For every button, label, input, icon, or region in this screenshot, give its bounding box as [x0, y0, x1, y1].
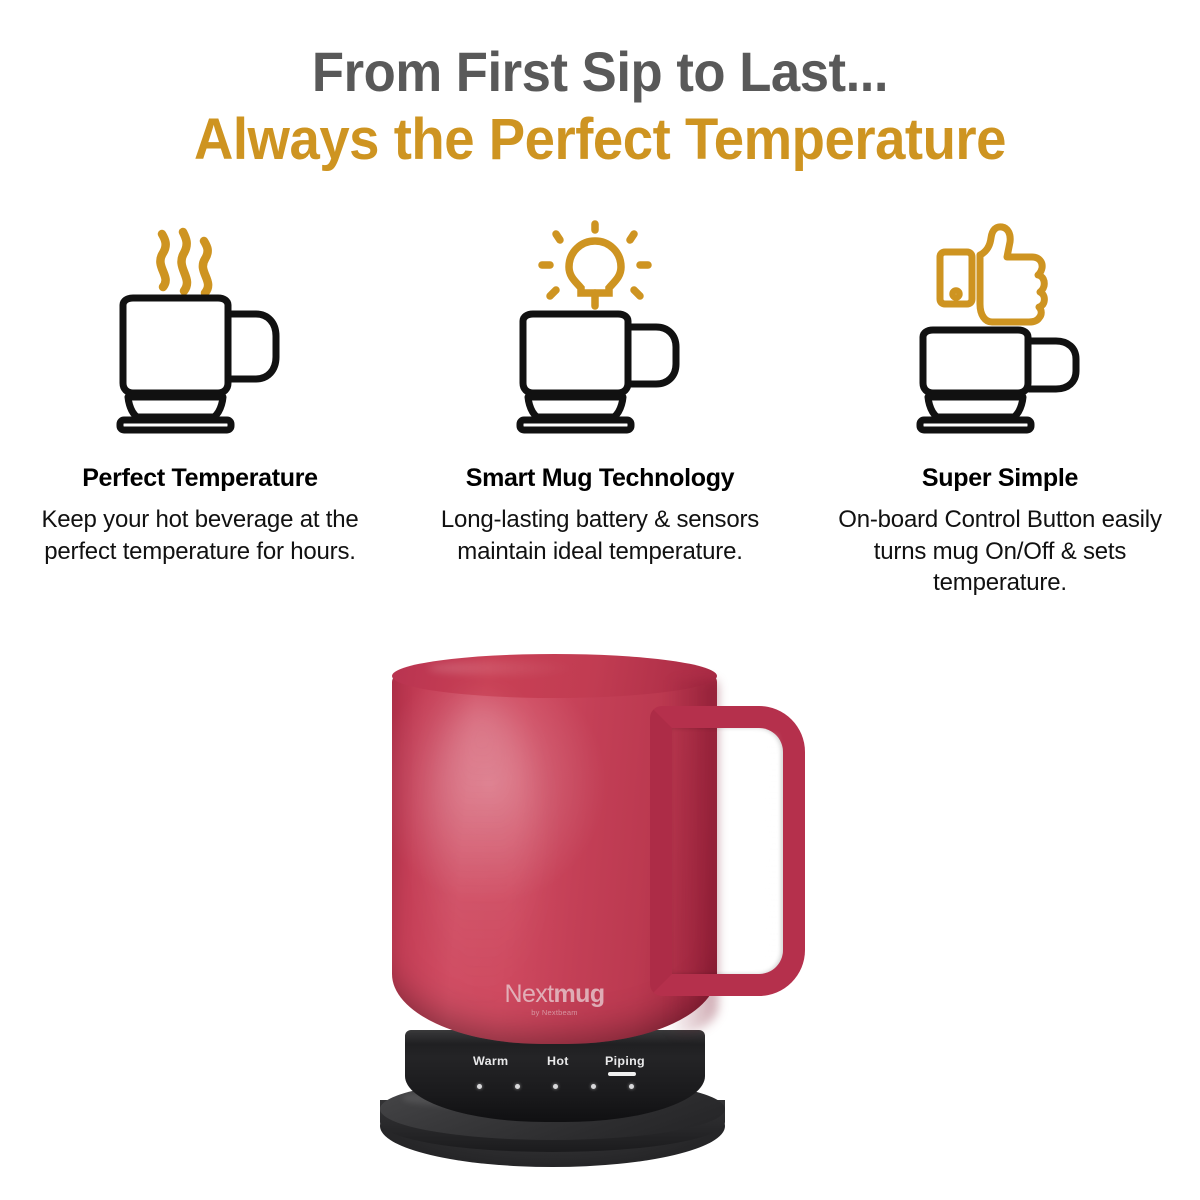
feature-description: On-board Control Button easily turns mug…	[835, 504, 1165, 598]
brand-tagline: by Nextbeam	[392, 1008, 717, 1017]
brand-name-bold: mug	[554, 980, 605, 1008]
mug-body-sheen	[428, 700, 536, 1000]
feature-column-smart-mug-technology: Smart Mug Technology Long-lasting batter…	[400, 209, 800, 598]
headline-line-1: From First Sip to Last...	[36, 42, 1164, 102]
feature-title: Super Simple	[922, 464, 1078, 493]
mug-with-lightbulb-icon	[510, 209, 690, 434]
headline-line-2: Always the Perfect Temperature	[36, 108, 1164, 173]
brand-name-light: Next	[505, 980, 554, 1008]
feature-description: Keep your hot beverage at the perfect te…	[35, 504, 365, 566]
mug-handle-highlight	[770, 734, 778, 966]
feature-row: Perfect Temperature Keep your hot bevera…	[0, 209, 1200, 598]
feature-title: Perfect Temperature	[82, 464, 318, 493]
headline-block: From First Sip to Last... Always the Per…	[0, 0, 1200, 173]
nextmug-product: Nextmug by Nextbeam Warm Hot Piping	[350, 630, 880, 1190]
nextmug-wordmark: Nextmug	[392, 982, 717, 1007]
mug-with-thumbs-up-icon	[910, 209, 1090, 434]
mug-with-steam-icon	[110, 209, 290, 434]
feature-column-perfect-temperature: Perfect Temperature Keep your hot bevera…	[0, 209, 400, 598]
feature-column-super-simple: Super Simple On-board Control Button eas…	[800, 209, 1200, 598]
feature-description: Long-lasting battery & sensors maintain …	[435, 504, 765, 566]
mug-rim-highlight	[428, 661, 578, 675]
mug-handle	[650, 706, 805, 996]
feature-title: Smart Mug Technology	[466, 464, 735, 493]
product-image-area: Nextmug by Nextbeam Warm Hot Piping	[0, 630, 1200, 1200]
nextmug-logo: Nextmug by Nextbeam	[392, 982, 717, 1017]
